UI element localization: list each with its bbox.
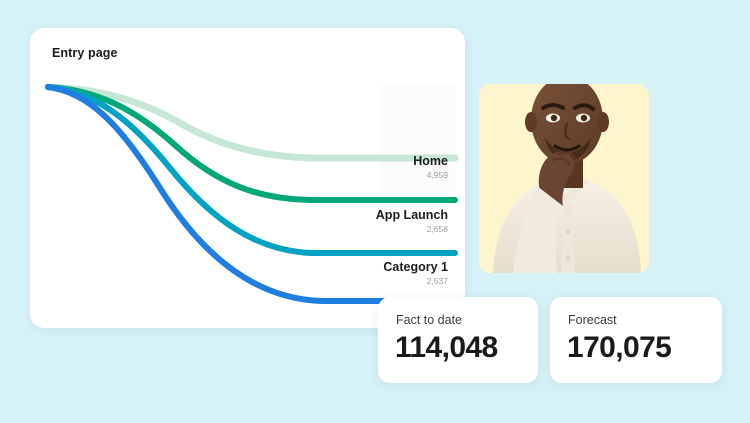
- series-label-category-1: Category 1 2,537: [288, 260, 448, 287]
- stat-card-forecast: Forecast 170,075: [550, 297, 722, 383]
- series-label-home: Home 4,959: [288, 154, 448, 181]
- series-name: Home: [288, 154, 448, 169]
- series-value: 2,658: [288, 223, 448, 235]
- series-name: App Launch: [288, 208, 448, 223]
- stat-value: 114,048: [395, 331, 498, 365]
- stat-value: 170,075: [567, 331, 671, 365]
- series-value: 2,537: [288, 275, 448, 287]
- series-name: Category 1: [288, 260, 448, 275]
- series-label-app-launch: App Launch 2,658: [288, 208, 448, 235]
- stat-card-fact-to-date: Fact to date 114,048: [378, 297, 538, 383]
- smiling-person-portrait: [479, 84, 649, 273]
- entry-page-chart-card: Entry page Home 4,959 App Launch 2,658 C…: [30, 28, 465, 328]
- portrait-photo-card: [479, 84, 649, 273]
- stat-label: Forecast: [568, 313, 617, 327]
- dashboard-canvas: Entry page Home 4,959 App Launch 2,658 C…: [0, 0, 750, 423]
- series-value: 4,959: [288, 169, 448, 181]
- stat-label: Fact to date: [396, 313, 462, 327]
